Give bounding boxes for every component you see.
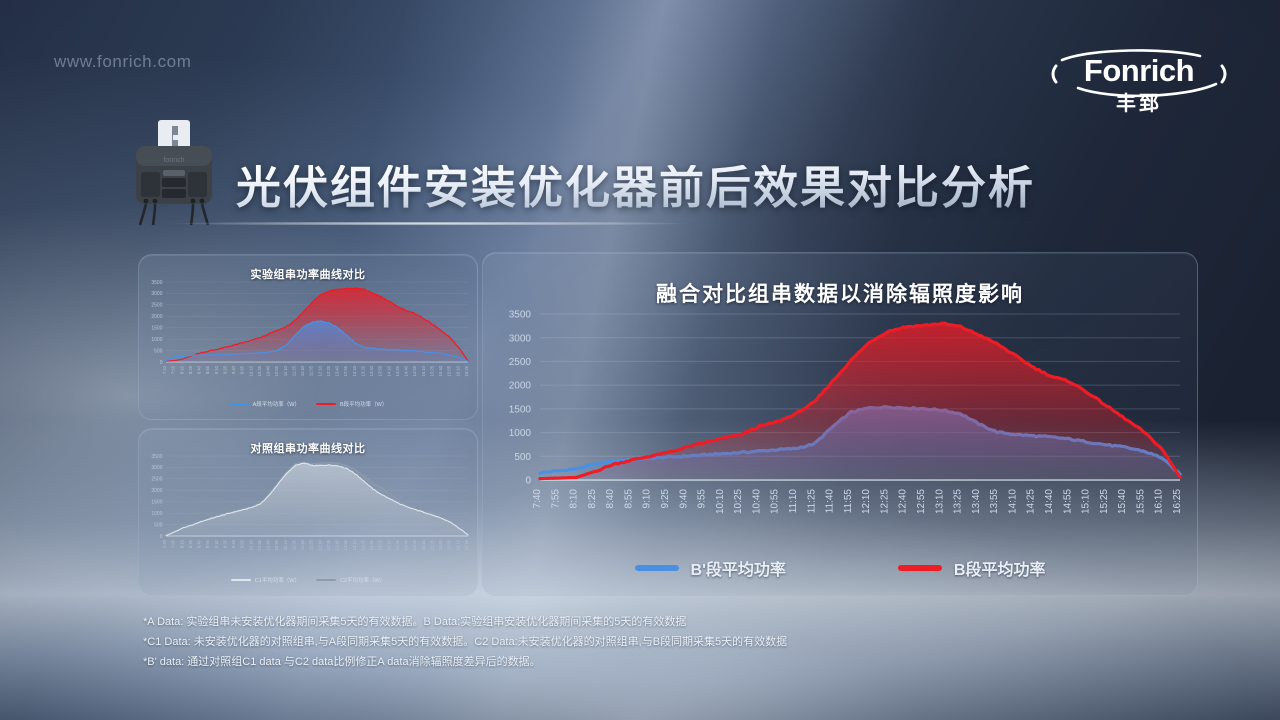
svg-text:14:10: 14:10	[386, 365, 391, 376]
svg-text:13:25: 13:25	[953, 489, 964, 514]
svg-text:9:10: 9:10	[214, 539, 219, 548]
svg-text:13:40: 13:40	[369, 365, 374, 376]
svg-text:10:10: 10:10	[715, 489, 726, 514]
svg-text:9:55: 9:55	[240, 539, 245, 548]
svg-text:500: 500	[154, 522, 163, 528]
svg-text:8:10: 8:10	[569, 489, 580, 509]
svg-text:14:40: 14:40	[1044, 489, 1055, 514]
svg-text:16:10: 16:10	[455, 539, 460, 550]
svg-text:7:40: 7:40	[162, 539, 167, 548]
svg-text:8:40: 8:40	[197, 365, 202, 374]
svg-text:1500: 1500	[151, 326, 162, 332]
svg-text:15:40: 15:40	[1117, 489, 1128, 514]
svg-text:12:10: 12:10	[317, 365, 322, 376]
svg-text:15:55: 15:55	[447, 365, 452, 376]
footnotes: *A Data: 实验组串未安装优化器期间采集5天的有效数据。B Data:实验…	[143, 612, 1193, 672]
svg-text:14:25: 14:25	[1026, 489, 1037, 514]
svg-text:11:10: 11:10	[283, 539, 288, 550]
svg-text:15:25: 15:25	[429, 365, 434, 376]
svg-text:9:55: 9:55	[240, 365, 245, 374]
svg-text:8:55: 8:55	[205, 365, 210, 374]
svg-text:15:25: 15:25	[429, 539, 434, 550]
svg-text:13:55: 13:55	[378, 539, 383, 550]
svg-text:13:10: 13:10	[352, 539, 357, 550]
svg-text:13:25: 13:25	[360, 539, 365, 550]
svg-text:13:25: 13:25	[360, 365, 365, 376]
svg-text:9:55: 9:55	[697, 489, 708, 509]
svg-text:16:25: 16:25	[1172, 489, 1183, 514]
svg-text:10:55: 10:55	[274, 539, 279, 550]
svg-text:1000: 1000	[509, 428, 532, 439]
svg-text:9:40: 9:40	[231, 365, 236, 374]
svg-text:2500: 2500	[151, 303, 162, 309]
svg-text:9:10: 9:10	[642, 489, 653, 509]
svg-text:3000: 3000	[509, 333, 532, 344]
svg-text:11:55: 11:55	[309, 365, 314, 376]
legend-swatch-blue	[229, 403, 249, 406]
legend-control: C1平均功率（W） C2平均功率（W）	[138, 576, 478, 584]
svg-text:9:25: 9:25	[222, 539, 227, 548]
svg-text:16:25: 16:25	[464, 539, 469, 550]
svg-text:0: 0	[160, 534, 163, 540]
svg-text:14:25: 14:25	[395, 539, 400, 550]
site-watermark: www.fonrich.com	[54, 52, 191, 72]
svg-text:16:25: 16:25	[464, 365, 469, 376]
svg-text:3500: 3500	[151, 280, 162, 286]
svg-text:3000: 3000	[151, 465, 162, 471]
legend-item-a[interactable]: A段平均功率（W）	[229, 400, 300, 408]
svg-text:16:10: 16:10	[1154, 489, 1165, 514]
svg-text:8:55: 8:55	[623, 489, 634, 509]
footnote-line-3: *B' data: 通过对照组C1 data 与C2 data比例修正A dat…	[143, 652, 1193, 672]
footnote-line-1: *A Data: 实验组串未安装优化器期间采集5天的有效数据。B Data:实验…	[143, 612, 1193, 632]
svg-text:2000: 2000	[509, 381, 532, 392]
svg-text:15:55: 15:55	[1135, 489, 1146, 514]
svg-text:7:40: 7:40	[162, 365, 167, 374]
legend-label-a: A段平均功率（W）	[253, 400, 300, 408]
svg-text:12:40: 12:40	[335, 365, 340, 376]
svg-text:10:55: 10:55	[770, 489, 781, 514]
svg-text:11:40: 11:40	[300, 365, 305, 376]
svg-text:12:25: 12:25	[326, 539, 331, 550]
svg-text:8:10: 8:10	[179, 539, 184, 548]
chart-experiment: 05001000150020002500300035007:407:558:10…	[138, 254, 478, 404]
legend-label-b: B段平均功率（W）	[340, 400, 387, 408]
svg-text:12:55: 12:55	[343, 539, 348, 550]
svg-text:10:25: 10:25	[257, 365, 262, 376]
svg-text:1500: 1500	[151, 500, 162, 506]
svg-text:11:10: 11:10	[283, 365, 288, 376]
svg-text:11:25: 11:25	[291, 539, 296, 550]
svg-text:11:25: 11:25	[806, 489, 817, 514]
legend-experiment: A段平均功率（W） B段平均功率（W）	[138, 400, 478, 408]
svg-text:3000: 3000	[151, 291, 162, 297]
legend-label-c1: C1平均功率（W）	[255, 576, 300, 584]
legend-swatch-red	[898, 565, 942, 571]
svg-text:15:40: 15:40	[438, 539, 443, 550]
svg-text:12:40: 12:40	[335, 539, 340, 550]
page-title: 光伏组件安装优化器前后效果对比分析	[236, 165, 1035, 226]
svg-text:12:55: 12:55	[916, 489, 927, 514]
svg-text:11:55: 11:55	[843, 489, 854, 514]
svg-text:10:55: 10:55	[274, 365, 279, 376]
svg-text:7:55: 7:55	[171, 539, 176, 548]
svg-text:14:55: 14:55	[412, 539, 417, 550]
svg-text:500: 500	[154, 348, 163, 354]
legend-swatch-light-grey	[231, 579, 251, 582]
svg-text:16:10: 16:10	[455, 365, 460, 376]
chart-merged: 05001000150020002500300035007:407:558:10…	[482, 252, 1198, 552]
logo-cn-text: 丰郅	[1116, 91, 1162, 115]
svg-text:14:10: 14:10	[1007, 489, 1018, 514]
svg-text:8:25: 8:25	[587, 489, 598, 509]
svg-text:14:10: 14:10	[386, 539, 391, 550]
svg-text:9:10: 9:10	[214, 365, 219, 374]
svg-text:0: 0	[160, 360, 163, 366]
footnote-line-2: *C1 Data: 未安装优化器的对照组串,与A段同期采集5天的有效数据。C2 …	[143, 632, 1193, 652]
svg-text:8:25: 8:25	[188, 365, 193, 374]
svg-text:12:55: 12:55	[343, 365, 348, 376]
svg-text:9:40: 9:40	[678, 489, 689, 509]
chart-control: 05001000150020002500300035007:407:558:10…	[138, 428, 478, 578]
legend-item-c2[interactable]: C2平均功率（W）	[316, 576, 385, 584]
svg-text:9:40: 9:40	[231, 539, 236, 548]
svg-text:2500: 2500	[509, 357, 532, 368]
svg-text:10:10: 10:10	[248, 365, 253, 376]
svg-text:10:40: 10:40	[751, 489, 762, 514]
fonrich-logo: Fonrich 丰郅	[1050, 40, 1228, 118]
svg-text:10:40: 10:40	[266, 539, 271, 550]
svg-text:13:40: 13:40	[971, 489, 982, 514]
optimizer-device-image: fonrich	[130, 118, 222, 226]
legend-label-b: B段平均功率	[954, 556, 1046, 580]
svg-text:10:40: 10:40	[266, 365, 271, 376]
svg-text:13:10: 13:10	[352, 365, 357, 376]
svg-text:15:40: 15:40	[438, 365, 443, 376]
legend-item-b[interactable]: B段平均功率	[898, 556, 1046, 580]
svg-text:9:25: 9:25	[222, 365, 227, 374]
svg-text:1500: 1500	[509, 404, 532, 415]
svg-text:11:40: 11:40	[300, 539, 305, 550]
svg-text:15:10: 15:10	[1081, 489, 1092, 514]
svg-text:15:55: 15:55	[447, 539, 452, 550]
svg-text:14:25: 14:25	[395, 365, 400, 376]
legend-swatch-red	[316, 403, 336, 406]
svg-text:13:55: 13:55	[378, 365, 383, 376]
page-title-row: fonrich 光伏组件安装优化器前后效果对比分析	[130, 118, 1035, 226]
device-brand-label: fonrich	[163, 157, 184, 164]
svg-text:10:10: 10:10	[248, 539, 253, 550]
legend-item-c1[interactable]: C1平均功率（W）	[231, 576, 300, 584]
svg-text:12:10: 12:10	[317, 539, 322, 550]
svg-text:8:10: 8:10	[179, 365, 184, 374]
svg-text:8:25: 8:25	[188, 539, 193, 548]
svg-text:14:40: 14:40	[404, 365, 409, 376]
legend-label-c2: C2平均功率（W）	[340, 576, 385, 584]
svg-text:12:25: 12:25	[326, 365, 331, 376]
legend-item-b[interactable]: B段平均功率（W）	[316, 400, 387, 408]
svg-text:12:25: 12:25	[879, 489, 890, 514]
svg-text:0: 0	[525, 476, 531, 487]
svg-text:15:10: 15:10	[421, 365, 426, 376]
svg-text:13:10: 13:10	[934, 489, 945, 514]
svg-text:13:55: 13:55	[989, 489, 1000, 514]
svg-text:12:40: 12:40	[898, 489, 909, 514]
svg-text:8:40: 8:40	[605, 489, 616, 509]
svg-text:7:40: 7:40	[532, 489, 543, 509]
svg-text:14:55: 14:55	[412, 365, 417, 376]
svg-text:1000: 1000	[151, 337, 162, 343]
legend-merged: B'段平均功率 B段平均功率	[482, 556, 1198, 580]
svg-text:2000: 2000	[151, 488, 162, 494]
svg-text:3500: 3500	[151, 454, 162, 460]
svg-text:3500: 3500	[509, 310, 532, 321]
svg-text:8:55: 8:55	[205, 539, 210, 548]
svg-text:12:10: 12:10	[861, 489, 872, 514]
svg-text:11:40: 11:40	[825, 489, 836, 514]
svg-text:15:10: 15:10	[421, 539, 426, 550]
svg-text:8:40: 8:40	[197, 539, 202, 548]
legend-swatch-blue	[635, 565, 679, 571]
svg-text:13:40: 13:40	[369, 539, 374, 550]
logo-latin-text: Fonrich	[1084, 53, 1194, 88]
svg-text:11:25: 11:25	[291, 365, 296, 376]
svg-text:11:55: 11:55	[309, 539, 314, 550]
legend-label-b-prime: B'段平均功率	[691, 556, 786, 580]
svg-text:14:55: 14:55	[1062, 489, 1073, 514]
legend-item-b-prime[interactable]: B'段平均功率	[635, 556, 786, 580]
svg-text:9:25: 9:25	[660, 489, 671, 509]
svg-text:10:25: 10:25	[733, 489, 744, 514]
svg-text:2000: 2000	[151, 314, 162, 320]
svg-text:2500: 2500	[151, 477, 162, 483]
svg-text:7:55: 7:55	[171, 365, 176, 374]
svg-text:1000: 1000	[151, 511, 162, 517]
svg-text:10:25: 10:25	[257, 539, 262, 550]
svg-text:7:55: 7:55	[550, 489, 561, 509]
svg-text:500: 500	[514, 452, 531, 463]
svg-text:15:25: 15:25	[1099, 489, 1110, 514]
legend-swatch-dark-grey	[316, 579, 336, 582]
svg-text:14:40: 14:40	[404, 539, 409, 550]
svg-text:11:10: 11:10	[788, 489, 799, 514]
